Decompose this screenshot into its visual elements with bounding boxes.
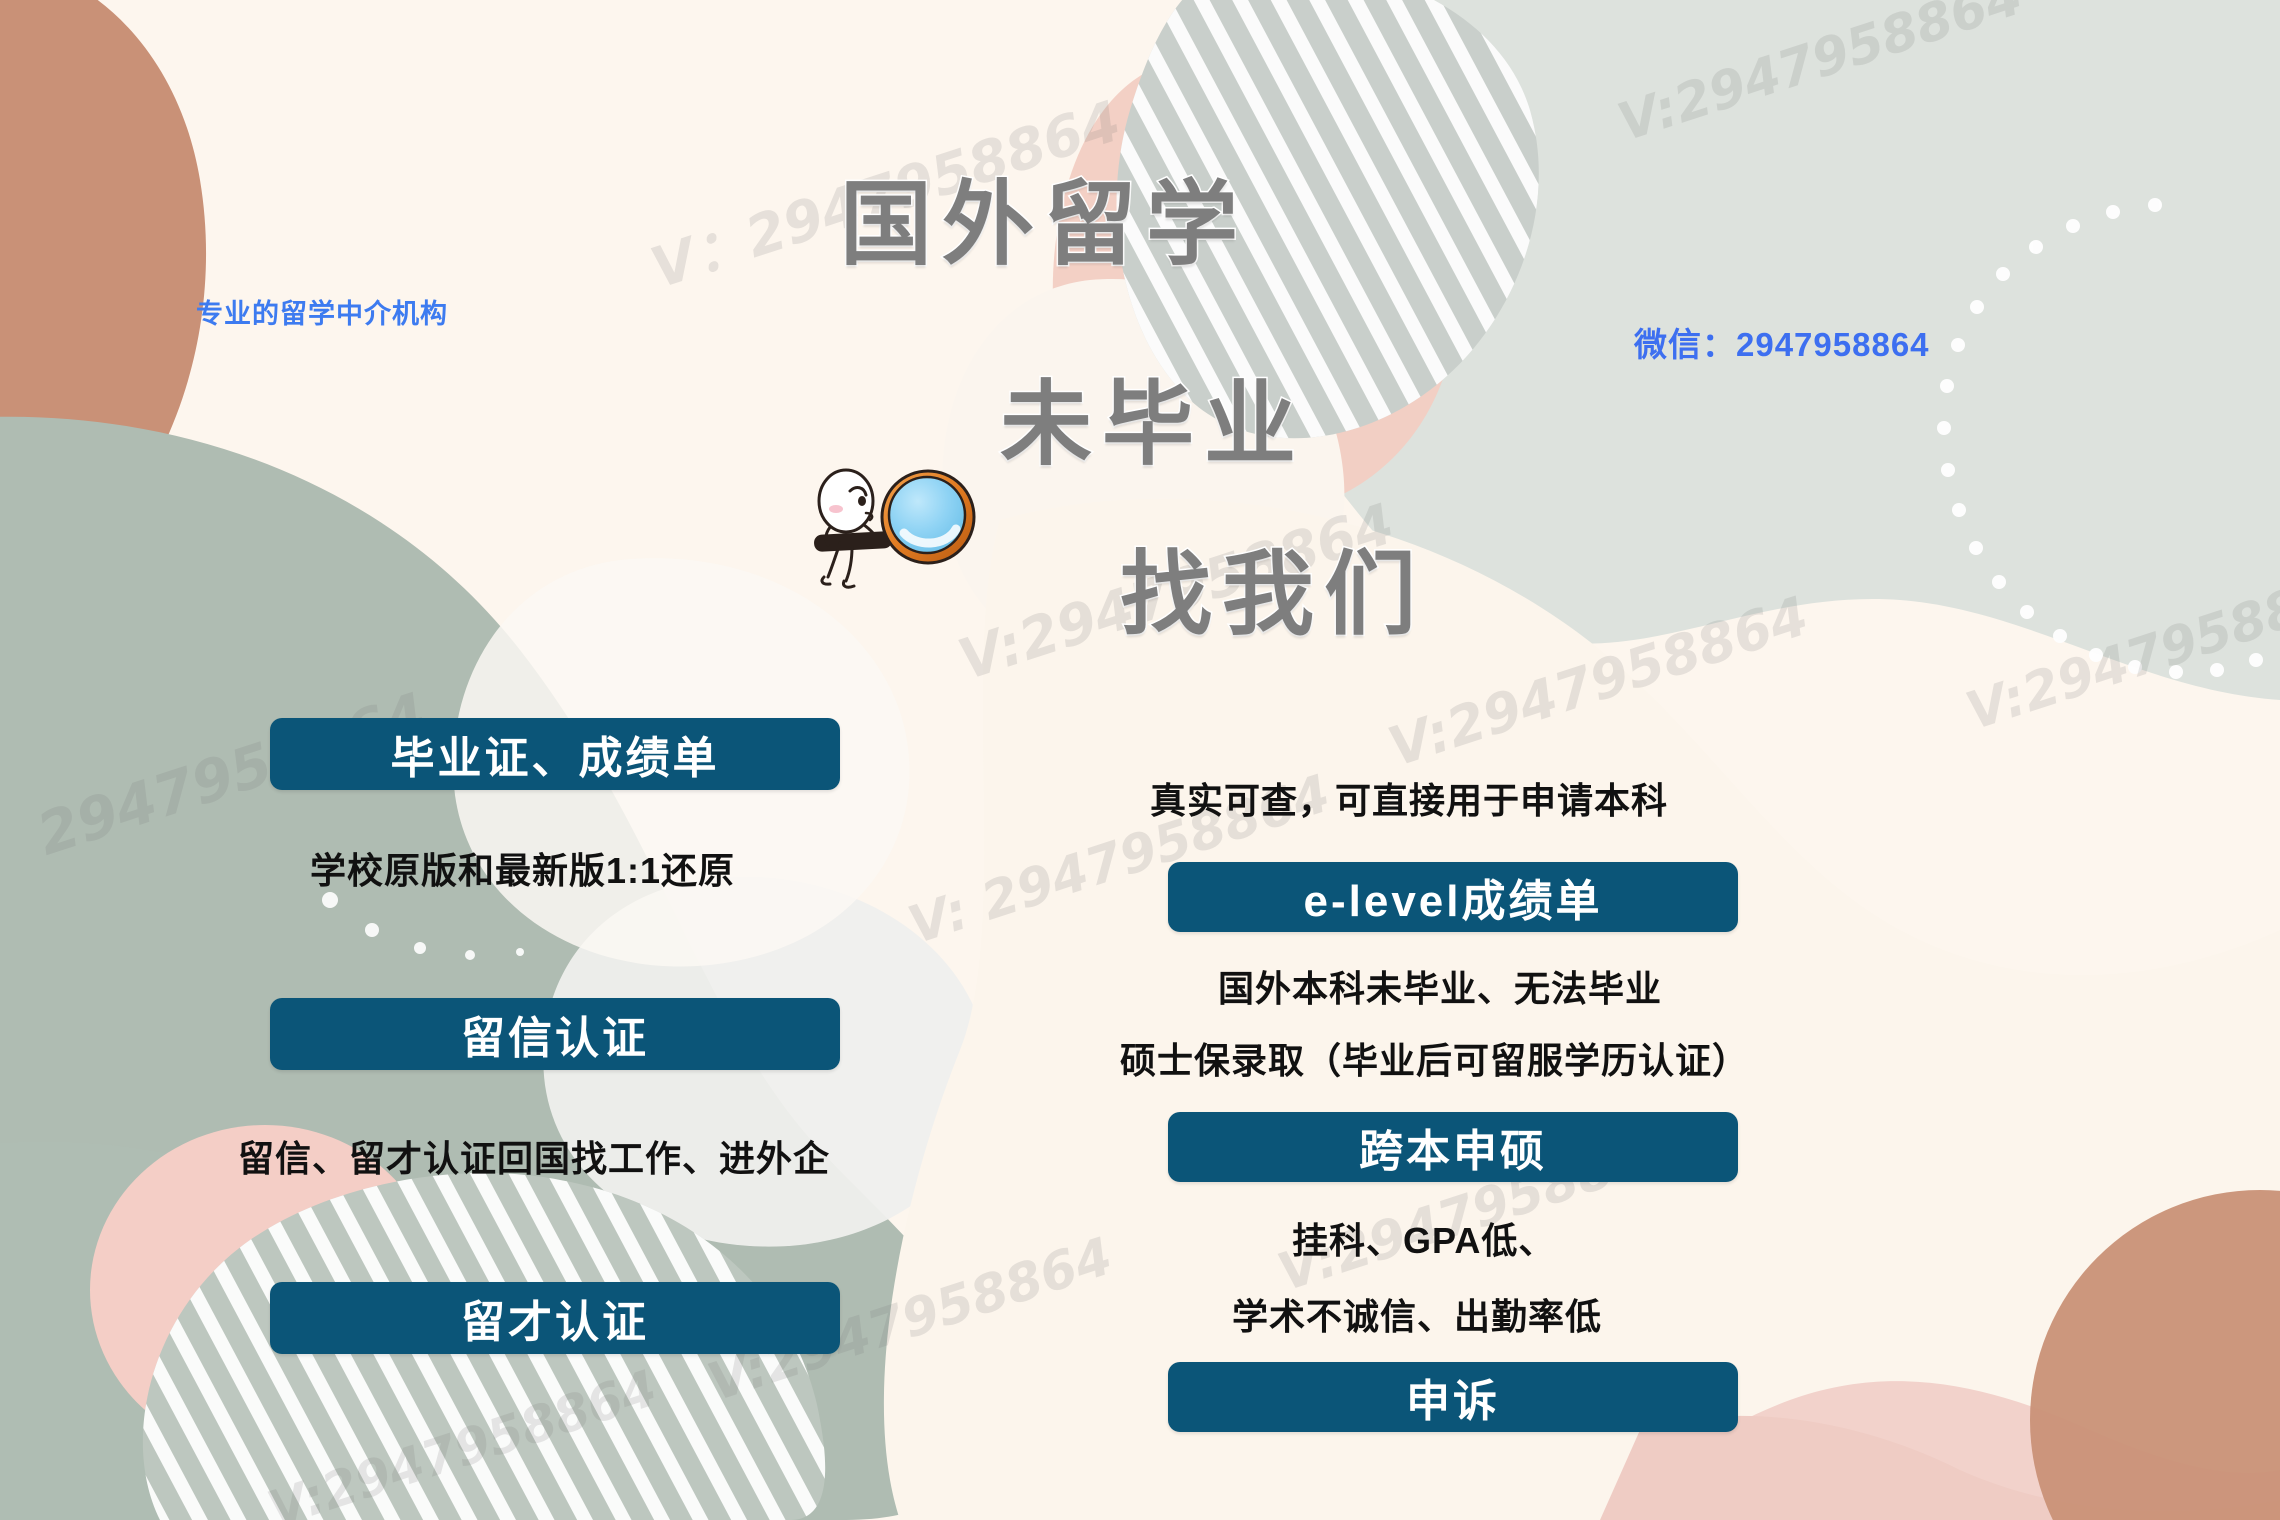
badge-label: 留信认证: [461, 1002, 649, 1066]
magnifying-glass-character-illustration: [800, 455, 980, 595]
headline-text-1: 国外留学: [840, 150, 1248, 283]
caption-e-level-1: 国外本科未毕业、无法毕业: [1218, 960, 1662, 1012]
badge-cross-major-master[interactable]: 跨本申硕: [1168, 1112, 1738, 1182]
badge-graduation-certificate[interactable]: 毕业证、成绩单: [270, 718, 840, 790]
badge-e-level-transcript[interactable]: e-level成绩单: [1168, 862, 1738, 932]
headline-line-3: 找我们: [1120, 520, 1426, 653]
caption-graduation-certificate: 学校原版和最新版1:1还原: [310, 842, 735, 894]
badge-liuxin-certification[interactable]: 留信认证: [270, 998, 840, 1070]
caption-cross-major-1: 挂科、GPA低、: [1292, 1212, 1555, 1264]
badge-label: 毕业证、成绩单: [391, 722, 720, 786]
badge-appeal[interactable]: 申诉: [1168, 1362, 1738, 1432]
magnifier-icon: [800, 455, 980, 595]
badge-label: e-level成绩单: [1304, 865, 1603, 929]
badge-liucai-certification[interactable]: 留才认证: [270, 1282, 840, 1354]
headline-line-1: 国外留学: [840, 150, 1248, 283]
wechat-contact[interactable]: 微信：2947958864: [1634, 318, 1930, 366]
headline-text-3: 找我们: [1120, 520, 1426, 653]
tagline: 专业的留学中介机构: [196, 292, 448, 331]
headline-line-2: 未毕业: [1000, 350, 1306, 483]
character-eye: [858, 496, 866, 506]
caption-liuxin-certification: 留信、留才认证回国找工作、进外企: [238, 1130, 830, 1182]
note-verifiable: 真实可查，可直接用于申请本科: [1150, 772, 1668, 824]
headline-text-2: 未毕业: [1000, 350, 1306, 483]
badge-label: 申诉: [1406, 1365, 1500, 1429]
badge-label: 跨本申硕: [1359, 1115, 1547, 1179]
poster-canvas: V:2947958864V：2947958864V:2947958864V:29…: [0, 0, 2280, 1520]
character-blush: [829, 505, 843, 513]
badge-label: 留才认证: [461, 1286, 649, 1350]
caption-e-level-2: 硕士保录取（毕业后可留服学历认证）: [1120, 1032, 1749, 1084]
caption-cross-major-2: 学术不诚信、出勤率低: [1232, 1288, 1602, 1340]
